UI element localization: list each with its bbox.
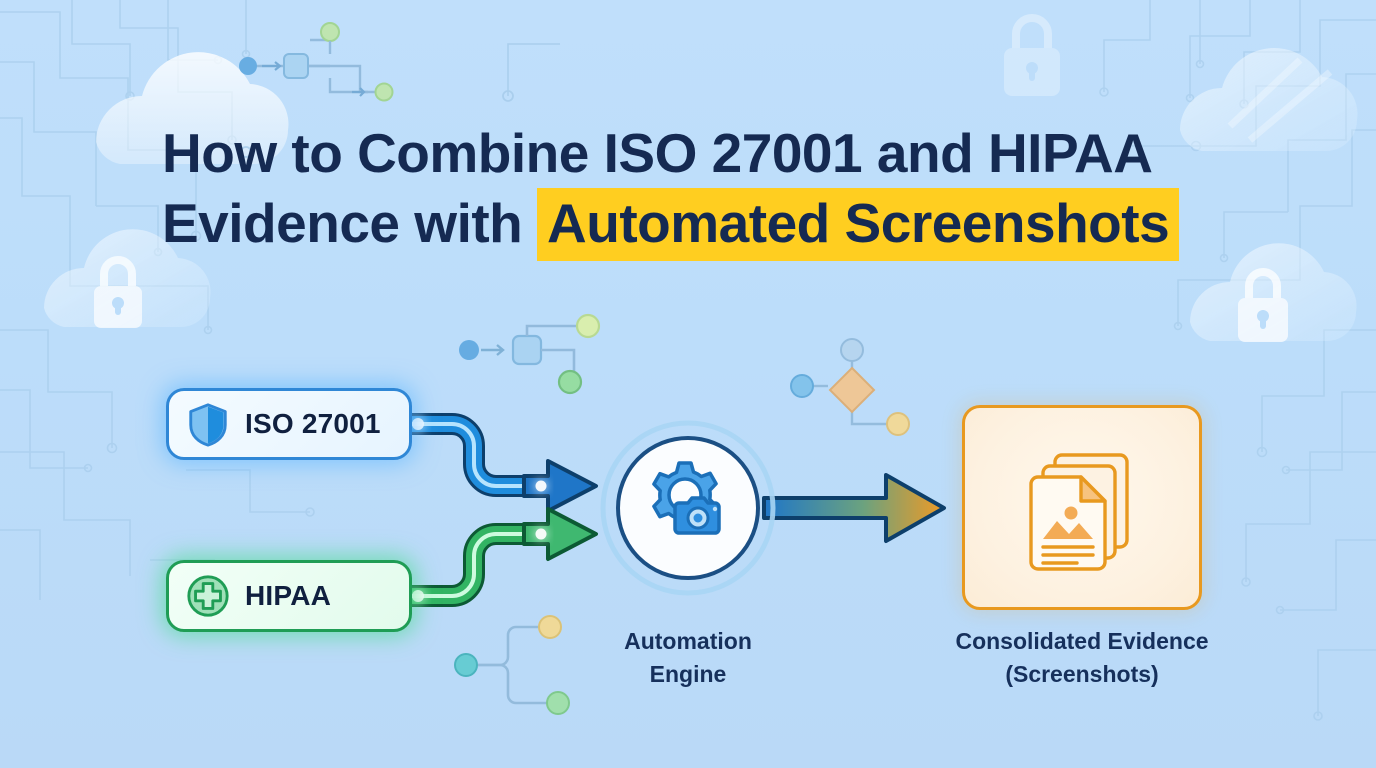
medical-cross-icon: [185, 573, 231, 619]
title-line-1: How to Combine ISO 27001 and HIPAA: [162, 118, 1252, 188]
source-card-hipaa[interactable]: HIPAA: [166, 560, 412, 632]
title-line-2: Evidence with Automated Screenshots: [162, 188, 1252, 258]
connector-hipaa-to-hub: [410, 509, 596, 602]
source-card-iso[interactable]: ISO 27001: [166, 388, 412, 460]
consolidated-evidence-label: Consolidated Evidence (Screenshots): [912, 625, 1252, 691]
title-prefix: Evidence with: [162, 192, 537, 254]
source-card-iso-label: ISO 27001: [245, 408, 381, 440]
document-stack-icon: [1019, 445, 1145, 571]
cloud-lock-right: [1190, 243, 1357, 342]
shield-icon: [185, 401, 231, 447]
output-card-evidence[interactable]: [962, 405, 1202, 610]
lock-icon: [94, 260, 142, 328]
circuit-right: [1100, 0, 1376, 720]
lock-icon: [1238, 272, 1288, 342]
title-highlight: Automated Screenshots: [537, 188, 1179, 261]
connector-hub-to-evidence: [764, 475, 944, 541]
source-card-hipaa-label: HIPAA: [245, 580, 331, 612]
connector-iso-to-hub: [410, 418, 596, 511]
flow-diamond-right: [791, 339, 909, 435]
flow-bottom-left: [455, 616, 569, 714]
circuit-left: [0, 0, 314, 618]
automation-engine-hub[interactable]: [600, 420, 776, 596]
infographic-canvas: How to Combine ISO 27001 and HIPAA Evide…: [0, 0, 1376, 768]
lock-top-right: [1004, 18, 1060, 96]
automation-engine-label: Automation Engine: [570, 625, 806, 691]
flow-mid-left: [459, 315, 599, 393]
page-title: How to Combine ISO 27001 and HIPAA Evide…: [162, 118, 1252, 258]
camera-icon: [675, 498, 719, 533]
